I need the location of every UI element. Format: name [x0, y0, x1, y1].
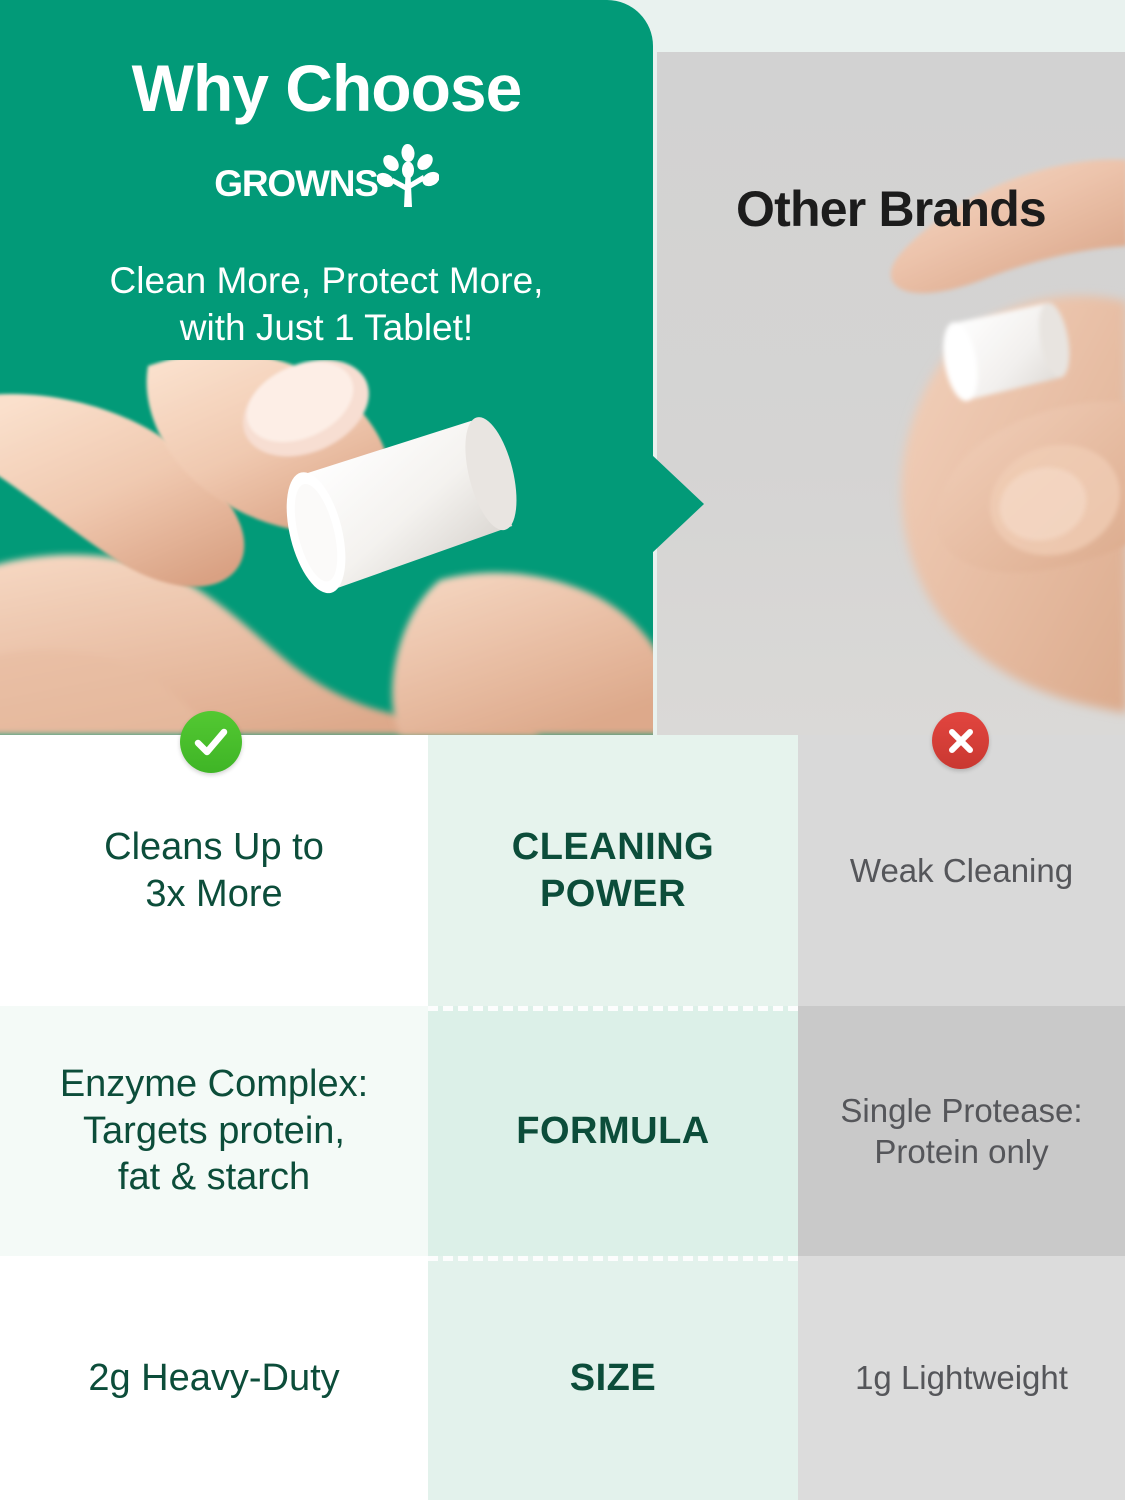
cell-line: Targets protein,	[83, 1110, 345, 1152]
table-row: SIZE	[428, 1256, 798, 1500]
tree-icon	[377, 144, 439, 208]
hero-tagline-line1: Clean More, Protect More,	[110, 260, 544, 301]
hero-tagline-line2: with Just 1 Tablet!	[180, 307, 473, 348]
comparison-table: Cleans Up to 3x More Enzyme Complex: Tar…	[0, 735, 1125, 1500]
x-circle-icon	[932, 712, 989, 769]
table-row: 1g Lightweight	[798, 1256, 1125, 1500]
hero-section: Why Choose GROWNS Clean More, Protect Mo	[0, 0, 1125, 735]
row-divider	[428, 1256, 798, 1261]
column-other-brands: Weak Cleaning Single Protease: Protein o…	[798, 735, 1125, 1500]
table-row: FORMULA	[428, 1006, 798, 1256]
cell-line: 3x More	[145, 873, 282, 915]
cell-line: CLEANING	[512, 826, 714, 868]
row-divider	[428, 1006, 798, 1011]
cell-line: Protein only	[874, 1133, 1048, 1170]
grows-value-formula: Enzyme Complex: Targets protein, fat & s…	[60, 1061, 368, 1200]
cell-line: Cleans Up to	[104, 826, 324, 868]
hero-title: Why Choose	[0, 50, 653, 126]
table-row: Single Protease: Protein only	[798, 1006, 1125, 1256]
attribute-formula: FORMULA	[516, 1108, 709, 1154]
brand-wordmark: GROWNS	[214, 163, 377, 205]
other-value-formula: Single Protease: Protein only	[840, 1090, 1082, 1173]
check-circle-icon	[180, 711, 242, 773]
hero-tagline: Clean More, Protect More, with Just 1 Ta…	[30, 258, 623, 352]
table-row: CLEANING POWER	[428, 735, 798, 1006]
table-row: 2g Heavy-Duty	[0, 1256, 428, 1500]
brand-product-photo	[0, 360, 653, 735]
competitor-title: Other Brands	[657, 180, 1125, 238]
grows-value-size: 2g Heavy-Duty	[88, 1355, 339, 1401]
column-attributes: CLEANING POWER FORMULA SIZE	[428, 735, 798, 1500]
other-value-cleaning-power: Weak Cleaning	[850, 850, 1073, 891]
competitor-panel	[657, 52, 1125, 735]
column-grows: Cleans Up to 3x More Enzyme Complex: Tar…	[0, 735, 428, 1500]
other-value-size: 1g Lightweight	[855, 1357, 1068, 1398]
competitor-product-photo	[657, 52, 1125, 735]
cell-line: Enzyme Complex:	[60, 1063, 368, 1105]
grows-value-cleaning-power: Cleans Up to 3x More	[104, 824, 324, 917]
table-row: Weak Cleaning	[798, 735, 1125, 1006]
table-row: Cleans Up to 3x More	[0, 735, 428, 1006]
brand-panel: Why Choose GROWNS Clean More, Protect Mo	[0, 0, 653, 735]
table-row: Enzyme Complex: Targets protein, fat & s…	[0, 1006, 428, 1256]
cell-line: POWER	[540, 873, 686, 915]
brand-logo: GROWNS	[0, 160, 653, 208]
cell-line: 2g Heavy-Duty	[88, 1357, 339, 1399]
attribute-size: SIZE	[570, 1355, 656, 1401]
cell-line: Single Protease:	[840, 1092, 1082, 1129]
cell-line: fat & starch	[118, 1156, 310, 1198]
attribute-cleaning-power: CLEANING POWER	[512, 824, 714, 917]
